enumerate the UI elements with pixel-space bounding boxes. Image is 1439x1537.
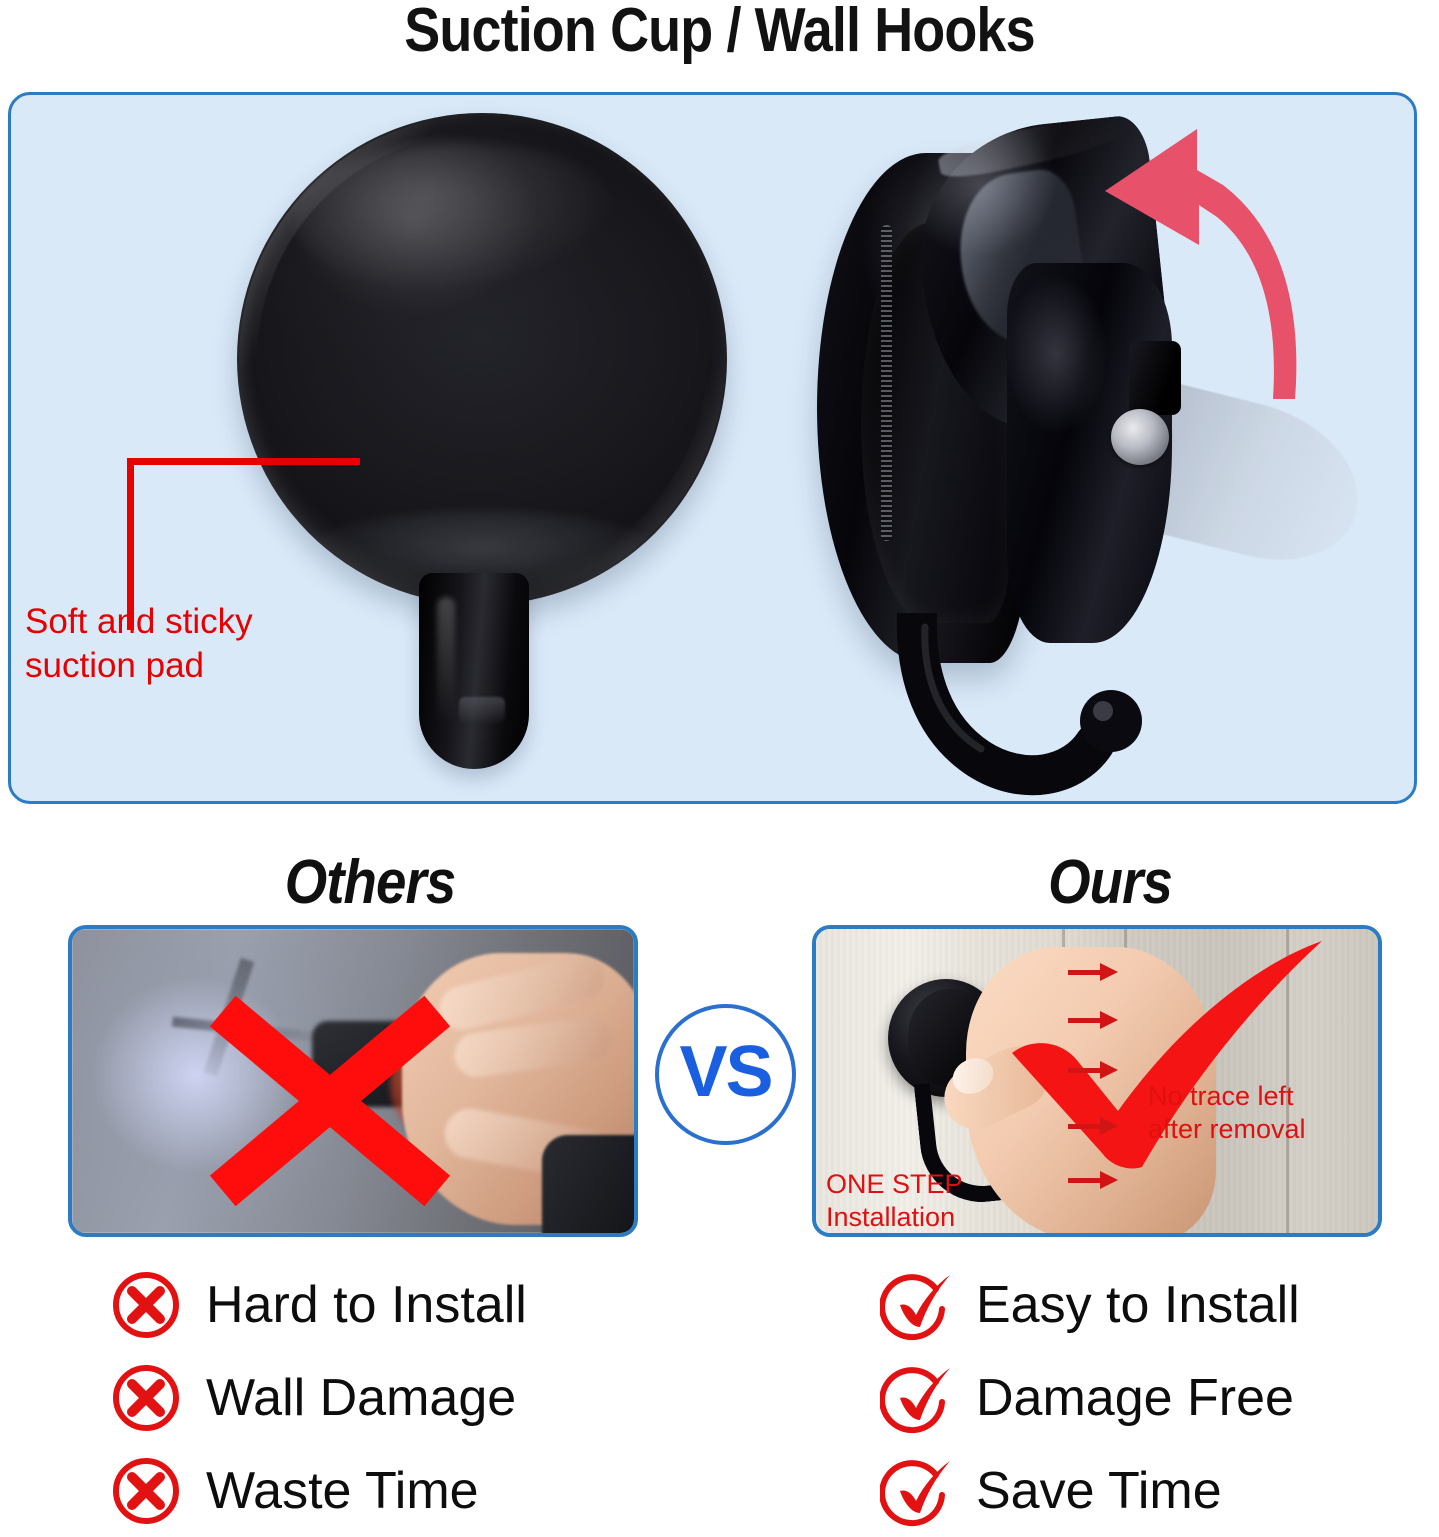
others-feature-list: Hard to Install Wall Damage Waste Time <box>110 1258 527 1537</box>
list-item: Save Time <box>880 1444 1300 1537</box>
list-item: Damage Free <box>880 1351 1300 1444</box>
vs-label: VS <box>679 1031 771 1113</box>
list-item-label: Hard to Install <box>206 1276 527 1334</box>
circled-x-icon <box>110 1455 182 1527</box>
others-sleeve <box>542 1135 638 1237</box>
list-item: Easy to Install <box>880 1258 1300 1351</box>
ours-wall-arrow <box>1068 1061 1120 1079</box>
note-no-trace-left: No trace left after removal <box>1148 1080 1338 1146</box>
disc-gloss-highlight <box>293 143 623 293</box>
side-hook-arm <box>873 613 1173 804</box>
circled-check-icon <box>880 1455 952 1527</box>
arrow-head <box>1100 1171 1118 1189</box>
lever-motion-arrow <box>1047 113 1309 409</box>
ours-wall-arrow <box>1068 1117 1120 1135</box>
circled-x-icon <box>110 1269 182 1341</box>
lever-pivot-screw <box>1111 409 1169 465</box>
suction-cup-front-view <box>223 105 753 804</box>
vs-badge: VS <box>655 1004 796 1145</box>
ours-heading: Ours <box>952 850 1269 916</box>
ours-wall-arrow <box>1068 1011 1120 1029</box>
ours-wall-arrow <box>1068 1171 1120 1189</box>
red-x-overlay <box>190 1003 470 1193</box>
note-one-step-installation: ONE STEP Installation <box>826 1168 1016 1234</box>
hero-product-panel: Soft and sticky suction pad <box>8 92 1417 804</box>
front-hook-embossed-mark <box>459 697 505 723</box>
callout-suction-pad-label: Soft and sticky suction pad <box>25 600 315 688</box>
leader-horizontal-segment <box>127 458 360 465</box>
others-heading: Others <box>212 850 529 916</box>
list-item-label: Wall Damage <box>206 1369 516 1427</box>
list-item: Wall Damage <box>110 1351 527 1444</box>
circled-check-icon <box>880 1269 952 1341</box>
list-item-label: Damage Free <box>976 1369 1294 1427</box>
arrow-head <box>1100 1061 1118 1079</box>
ours-wall-arrow <box>1068 963 1120 981</box>
arrow-head <box>1100 963 1118 981</box>
front-hook-arm <box>419 573 529 769</box>
arrow-head <box>1100 1117 1118 1135</box>
list-item-label: Waste Time <box>206 1462 479 1520</box>
list-item-label: Easy to Install <box>976 1276 1300 1334</box>
arrow-head <box>1100 1011 1118 1029</box>
suction-cup-side-view <box>811 113 1331 803</box>
list-item: Waste Time <box>110 1444 527 1537</box>
side-suction-cup-ridge <box>881 225 892 541</box>
page-title: Suction Cup / Wall Hooks <box>94 0 1346 66</box>
circled-x-icon <box>110 1362 182 1434</box>
list-item: Hard to Install <box>110 1258 527 1351</box>
circled-check-icon <box>880 1362 952 1434</box>
list-item-label: Save Time <box>976 1462 1222 1520</box>
others-photo-panel <box>68 925 638 1237</box>
ours-feature-list: Easy to Install Damage Free Save Time <box>880 1258 1300 1537</box>
